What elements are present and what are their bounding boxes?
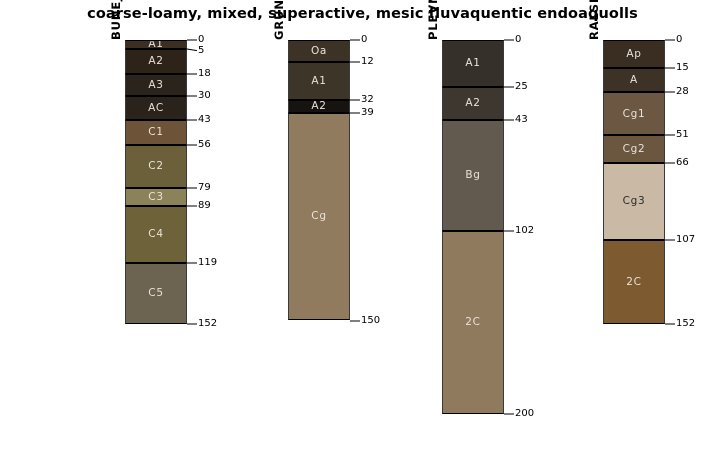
horizon-label: A1 bbox=[465, 58, 480, 69]
horizon-label: Oa bbox=[311, 46, 327, 57]
depth-tick-label: 107 bbox=[676, 235, 695, 245]
horizon-a2[interactable]: A2 bbox=[442, 87, 504, 121]
depth-tick-label: 79 bbox=[198, 183, 211, 193]
horizon-label: A2 bbox=[465, 98, 480, 109]
horizon-label: A3 bbox=[148, 80, 163, 91]
profile-column: ApACg1Cg2Cg32C bbox=[603, 40, 665, 324]
depth-tick-label: 89 bbox=[198, 201, 211, 211]
horizon-a2[interactable]: A2 bbox=[288, 100, 350, 113]
profile-name-label: PLEVNA bbox=[426, 0, 440, 40]
horizon-2c[interactable]: 2C bbox=[442, 231, 504, 414]
horizon-cg3[interactable]: Cg3 bbox=[603, 163, 665, 240]
depth-tick-label: 66 bbox=[676, 158, 689, 168]
horizon-label: A1 bbox=[148, 40, 163, 49]
depth-tick-label: 200 bbox=[515, 409, 534, 419]
horizon-a1[interactable]: A1 bbox=[125, 40, 187, 49]
depth-tick-label: 43 bbox=[198, 115, 211, 125]
depth-tick-label: 102 bbox=[515, 226, 534, 236]
horizon-c1[interactable]: C1 bbox=[125, 120, 187, 144]
horizon-a1[interactable]: A1 bbox=[442, 40, 504, 87]
depth-tick-label: 0 bbox=[515, 35, 521, 45]
depth-tick-label: 152 bbox=[676, 319, 695, 329]
horizon-label: A2 bbox=[148, 56, 163, 67]
depth-tick-label: 5 bbox=[198, 46, 204, 56]
horizon-label: Cg3 bbox=[623, 196, 646, 207]
horizon-label: AC bbox=[148, 103, 164, 114]
horizon-ac[interactable]: AC bbox=[125, 96, 187, 120]
profile-name-label: BUNEJUG bbox=[109, 0, 123, 40]
horizon-c5[interactable]: C5 bbox=[125, 263, 187, 325]
depth-tick-label: 51 bbox=[676, 130, 689, 140]
profile-column: A1A2Bg2C bbox=[442, 40, 504, 414]
depth-tick-label: 39 bbox=[361, 108, 374, 118]
profile-name-label: GRUNNEY bbox=[272, 0, 286, 40]
horizon-cg[interactable]: Cg bbox=[288, 113, 350, 321]
depth-tick-label: 28 bbox=[676, 87, 689, 97]
horizon-c3[interactable]: C3 bbox=[125, 188, 187, 207]
depth-tick-label: 32 bbox=[361, 95, 374, 105]
horizon-label: A2 bbox=[311, 101, 326, 112]
horizon-c4[interactable]: C4 bbox=[125, 206, 187, 262]
profile-name-label: RALSEN bbox=[587, 0, 601, 40]
depth-tick-label: 119 bbox=[198, 258, 217, 268]
depth-tick-label: 56 bbox=[198, 140, 211, 150]
depth-tick-label: 30 bbox=[198, 91, 211, 101]
horizon-a2[interactable]: A2 bbox=[125, 49, 187, 73]
profile-column: A1A2A3ACC1C2C3C4C5 bbox=[125, 40, 187, 324]
horizon-label: C5 bbox=[148, 288, 163, 299]
horizon-label: C2 bbox=[148, 161, 163, 172]
horizon-label: 2C bbox=[465, 317, 480, 328]
horizon-bg[interactable]: Bg bbox=[442, 120, 504, 230]
depth-tick-label: 25 bbox=[515, 82, 528, 92]
depth-tick-label: 43 bbox=[515, 115, 528, 125]
profile-column: OaA1A2Cg bbox=[288, 40, 350, 321]
horizon-2c[interactable]: 2C bbox=[603, 240, 665, 324]
horizon-label: Ap bbox=[626, 49, 641, 60]
horizon-label: Cg2 bbox=[623, 144, 646, 155]
horizon-a3[interactable]: A3 bbox=[125, 74, 187, 96]
depth-tick-label: 0 bbox=[198, 35, 204, 45]
horizon-oa[interactable]: Oa bbox=[288, 40, 350, 62]
depth-tick-label: 12 bbox=[361, 57, 374, 67]
horizon-ap[interactable]: Ap bbox=[603, 40, 665, 68]
horizon-label: A bbox=[630, 75, 638, 86]
depth-tick-label: 18 bbox=[198, 69, 211, 79]
horizon-label: C3 bbox=[148, 192, 163, 203]
horizon-label: Bg bbox=[465, 170, 480, 181]
horizon-label: A1 bbox=[311, 76, 326, 87]
horizon-label: Cg1 bbox=[623, 109, 646, 120]
depth-tick-label: 150 bbox=[361, 316, 380, 326]
horizon-c2[interactable]: C2 bbox=[125, 145, 187, 188]
horizon-a1[interactable]: A1 bbox=[288, 62, 350, 99]
horizon-label: 2C bbox=[626, 277, 641, 288]
depth-tick-label: 15 bbox=[676, 63, 689, 73]
horizon-label: C4 bbox=[148, 229, 163, 240]
depth-tick-label: 0 bbox=[361, 35, 367, 45]
depth-tick-label: 0 bbox=[676, 35, 682, 45]
horizon-cg1[interactable]: Cg1 bbox=[603, 92, 665, 135]
horizon-cg2[interactable]: Cg2 bbox=[603, 135, 665, 163]
horizon-label: Cg bbox=[311, 211, 326, 222]
horizon-a[interactable]: A bbox=[603, 68, 665, 92]
horizon-label: C1 bbox=[148, 127, 163, 138]
depth-tick-label: 152 bbox=[198, 319, 217, 329]
